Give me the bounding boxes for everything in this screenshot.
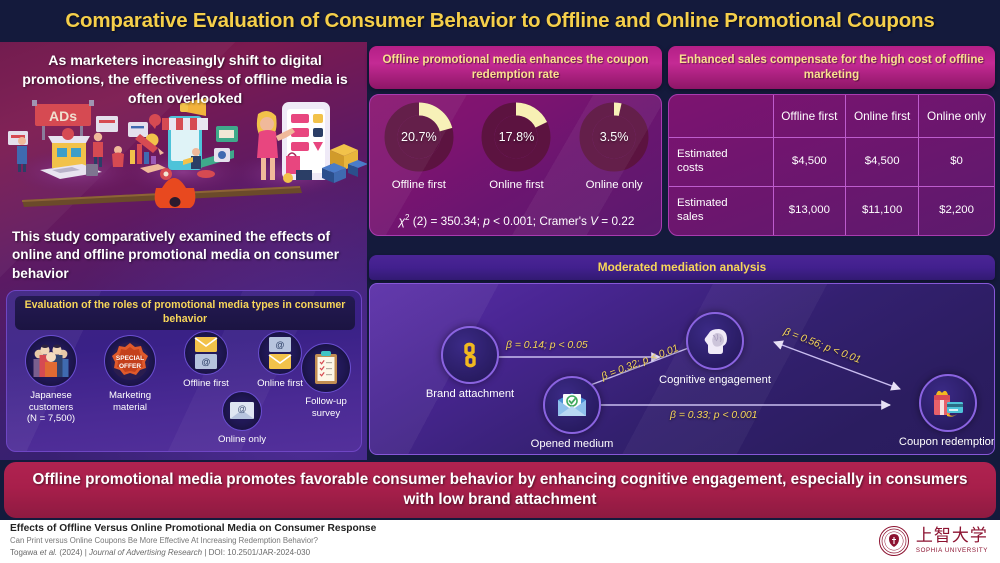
donut-chart: 20.7% (383, 101, 455, 173)
infographic-poster: Comparative Evaluation of Consumer Behav… (0, 0, 1000, 563)
logo-text: 上智大学 SOPHIA UNIVERSITY (916, 528, 988, 554)
node-label: Opened medium (512, 438, 632, 450)
poster-title-bar: Comparative Evaluation of Consumer Behav… (0, 0, 1000, 42)
group-of-people-icon (25, 335, 77, 387)
mediation-header: Moderated mediation analysis (369, 255, 995, 280)
logo-english-name: SOPHIA UNIVERSITY (916, 548, 988, 554)
svg-text:OFFER: OFFER (119, 363, 141, 370)
gift-and-coupon-card-icon (919, 374, 977, 432)
footer: Effects of Offline Versus Online Promoti… (0, 520, 1000, 563)
costs-sales-header: Enhanced sales compensate for the high c… (668, 46, 995, 89)
design-item-japanese-customers: Japanese customers (N = 7,500) (15, 335, 87, 425)
costs-sales-section: Enhanced sales compensate for the high c… (668, 46, 995, 236)
svg-text:@: @ (237, 404, 246, 414)
chain-link-icon (441, 326, 499, 384)
offline-vs-online-promotion-seesaw-illustration: ADs (0, 94, 367, 222)
mediation-diagram-panel: Brand attachment Cognitive engagement (369, 283, 995, 455)
design-item-label: Japanese customers (N = 7,500) (15, 390, 87, 425)
row-label-estimated-costs: Estimated costs (669, 137, 773, 186)
table-column-online-only: Online only (919, 95, 994, 137)
table-corner-cell (669, 95, 773, 137)
svg-text:ADs: ADs (49, 108, 77, 124)
design-item-marketing-material: SPECIAL OFFER Marketing material (95, 335, 165, 413)
beta-value: β = 0.33 (670, 410, 708, 421)
cell-sales-online-only: $2,200 (919, 187, 994, 236)
donut-chart-group: 20.7% Offline first 17.8% Onli (370, 101, 662, 191)
stat-part-1: (2) = 350.34; (410, 214, 484, 228)
cell-costs-online-only: $0 (919, 137, 994, 186)
p-value: p < 0.05 (550, 340, 588, 351)
design-item-label: Offline first (167, 378, 245, 390)
study-purpose-statement: This study comparatively examined the ef… (12, 228, 357, 283)
v-symbol: V (590, 214, 598, 228)
cell-sales-offline-first: $13,000 (773, 187, 846, 236)
path-label-opened-coupon: β = 0.33; p < 0.001 (670, 410, 757, 421)
node-label: Cognitive engagement (655, 374, 775, 386)
study-design-panel: Evaluation of the roles of promotional m… (6, 290, 362, 452)
email-envelope-icon: @ (222, 391, 262, 431)
redemption-rate-section: Offline promotional media enhances the c… (369, 46, 662, 236)
hook-statement: As marketers increasingly shift to digit… (10, 52, 360, 109)
donut-chart: 3.5% (578, 101, 650, 173)
mediation-section: Moderated mediation analysis (369, 255, 995, 455)
node-label: Coupon redemption (888, 436, 995, 448)
donut-value-label: 17.8% (480, 101, 552, 173)
logo-japanese-name: 上智大学 (916, 528, 988, 545)
svg-text:SPECIAL: SPECIAL (116, 355, 144, 362)
path-label-brand-cognitive: β = 0.14; p < 0.05 (506, 340, 588, 351)
costs-sales-table: Offline first Online first Online only E… (669, 95, 994, 235)
cell-costs-offline-first: $4,500 (773, 137, 846, 186)
citation-journal: Journal of Advertising Research (89, 548, 202, 557)
sophia-university-logo: 上智大学 SOPHIA UNIVERSITY (879, 526, 988, 556)
table-row: Estimated sales $13,000 $11,100 $2,200 (669, 187, 994, 236)
table-header-row: Offline first Online first Online only (669, 95, 994, 137)
opened-envelope-check-icon (543, 376, 601, 434)
donut-value-label: 3.5% (578, 101, 650, 173)
node-coupon-redemption: Coupon redemption (888, 374, 995, 448)
citation-year: (2024) | (57, 548, 89, 557)
head-brain-icon (686, 312, 744, 370)
node-opened-medium: Opened medium (512, 376, 632, 450)
donut-online-only: 3.5% Online only (571, 101, 657, 191)
p-value: p < 0.001 (714, 410, 758, 421)
redemption-rate-chart-panel: 20.7% Offline first 17.8% Onli (369, 94, 662, 236)
chi-square-statistic: χ2 (2) = 350.34; p < 0.001; Cramer's V =… (370, 213, 662, 228)
donut-category-label: Online first (473, 179, 559, 191)
donut-chart: 17.8% (480, 101, 552, 173)
design-item-label: Online only (203, 434, 281, 446)
design-item-offline-first: @ Offline first (167, 331, 245, 390)
donut-online-first: 17.8% Online first (473, 101, 559, 191)
special-offer-badge-icon: SPECIAL OFFER (104, 335, 156, 387)
cell-costs-online-first: $4,500 (846, 137, 919, 186)
table-column-online-first: Online first (846, 95, 919, 137)
design-item-followup-survey: Follow-up survey (293, 343, 359, 419)
table-column-offline-first: Offline first (773, 95, 846, 137)
paper-citation: Togawa et al. (2024) | Journal of Advert… (10, 548, 310, 557)
donut-category-label: Offline first (376, 179, 462, 191)
donut-category-label: Online only (571, 179, 657, 191)
clipboard-checklist-icon (301, 343, 351, 393)
stat-part-2: < 0.001; Cramer's (490, 214, 590, 228)
envelope-then-email-icon: @ (184, 331, 228, 375)
svg-text:@: @ (201, 357, 210, 367)
study-design-heading: Evaluation of the roles of promotional m… (15, 296, 355, 330)
donut-value-label: 20.7% (383, 101, 455, 173)
costs-sales-table-panel: Offline first Online first Online only E… (668, 94, 995, 236)
design-item-label: Marketing material (95, 390, 165, 413)
citation-etal: et al. (40, 548, 57, 557)
citation-authors: Togawa (10, 548, 40, 557)
donut-offline-first: 20.7% Offline first (376, 101, 462, 191)
beta-value: β = 0.14 (506, 340, 544, 351)
svg-text:@: @ (275, 340, 284, 350)
sophia-crest-icon (879, 526, 909, 556)
redemption-rate-header: Offline promotional media enhances the c… (369, 46, 662, 89)
left-column: As marketers increasingly shift to digit… (0, 42, 367, 460)
citation-doi: | DOI: 10.2501/JAR-2024-030 (202, 548, 310, 557)
cell-sales-online-first: $11,100 (846, 187, 919, 236)
poster-title: Comparative Evaluation of Consumer Behav… (65, 9, 934, 33)
table-row: Estimated costs $4,500 $4,500 $0 (669, 137, 994, 186)
paper-subtitle: Can Print versus Online Coupons Be More … (10, 536, 318, 545)
design-item-label: Follow-up survey (293, 396, 359, 419)
paper-title: Effects of Offline Versus Online Promoti… (10, 523, 376, 534)
stat-part-3: = 0.22 (598, 214, 634, 228)
key-takeaway-banner: Offline promotional media promotes favor… (4, 462, 996, 518)
design-item-online-only: @ Online only (203, 391, 281, 446)
row-label-estimated-sales: Estimated sales (669, 187, 773, 236)
